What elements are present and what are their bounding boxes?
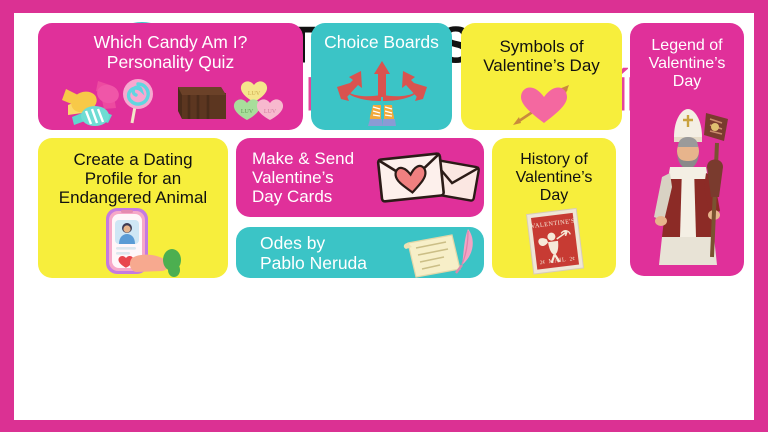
svg-text:LUV: LUV bbox=[264, 109, 277, 115]
vintage-cupid-stamp-icon: VALENTINE'S MAIL 2¢ 2¢ bbox=[526, 208, 588, 274]
svg-text:LUV: LUV bbox=[248, 91, 261, 97]
poster-border-frame: 8 ACTIVITIES FOR DÍA DE SAN VALENTÍN Whi… bbox=[0, 0, 768, 432]
svg-text:LUV: LUV bbox=[241, 109, 254, 115]
heart-with-arrow-icon bbox=[511, 83, 579, 127]
card-odes-by-pablo-neruda[interactable]: Odes by Pablo Neruda bbox=[236, 227, 484, 278]
directional-arrows-shoes-icon bbox=[337, 61, 427, 127]
card-label-legend: Legend of Valentine’s Day bbox=[630, 37, 744, 91]
card-label-symbols: Symbols of Valentine’s Day bbox=[461, 37, 622, 75]
svg-text:2¢: 2¢ bbox=[569, 256, 575, 263]
scroll-quill-icon bbox=[402, 229, 480, 277]
candy-assortment-icon: LUV LUV LUV bbox=[58, 75, 288, 125]
saint-valentine-bishop-icon bbox=[644, 107, 732, 269]
card-choice-boards[interactable]: Choice Boards bbox=[311, 23, 452, 130]
card-history-of-valentines-day[interactable]: History of Valentine’s Day VALENTINE'S bbox=[492, 138, 616, 278]
card-label-dating-profile: Create a Dating Profile for an Endangere… bbox=[38, 150, 228, 207]
card-symbols-of-valentines-day[interactable]: Symbols of Valentine’s Day bbox=[461, 23, 622, 130]
card-legend-of-valentines-day[interactable]: Legend of Valentine’s Day bbox=[630, 23, 744, 276]
love-letter-envelope-icon bbox=[376, 148, 480, 210]
card-label-history: History of Valentine’s Day bbox=[492, 151, 616, 205]
poster-canvas: 8 ACTIVITIES FOR DÍA DE SAN VALENTÍN Whi… bbox=[14, 13, 754, 420]
card-label-candy: Which Candy Am I? Personality Quiz bbox=[38, 33, 303, 72]
card-make-send-valentines-cards[interactable]: Make & Send Valentine’s Day Cards bbox=[236, 138, 484, 217]
card-which-candy-am-i[interactable]: Which Candy Am I? Personality Quiz bbox=[38, 23, 303, 130]
dating-app-phone-icon bbox=[98, 208, 194, 276]
svg-text:2¢: 2¢ bbox=[540, 260, 546, 267]
card-label-choice-boards: Choice Boards bbox=[311, 33, 452, 53]
card-create-dating-profile[interactable]: Create a Dating Profile for an Endangere… bbox=[38, 138, 228, 278]
